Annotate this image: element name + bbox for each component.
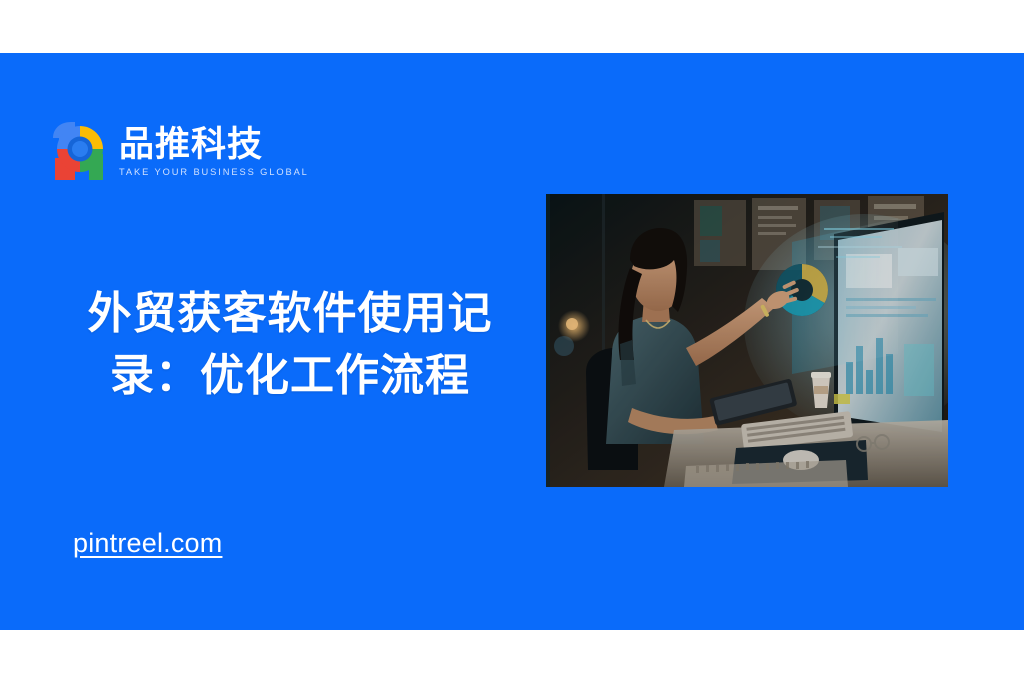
brand-logo[interactable]: 品推科技 TAKE YOUR BUSINESS GLOBAL <box>49 118 309 184</box>
hero-photo <box>546 194 948 487</box>
brand-wordmark: 品推科技 TAKE YOUR BUSINESS GLOBAL <box>119 125 309 176</box>
brand-name-cn: 品推科技 <box>119 125 309 164</box>
brand-tagline: TAKE YOUR BUSINESS GLOBAL <box>119 167 309 177</box>
slide-canvas: 品推科技 TAKE YOUR BUSINESS GLOBAL 外贸获客软件使用记… <box>0 0 1024 683</box>
page-title-line-1: 外贸获客软件使用记 <box>56 283 524 345</box>
page-title-line-2: 录：优化工作流程 <box>56 345 524 407</box>
pintreel-p-ring-logo-icon <box>49 118 111 184</box>
page-title: 外贸获客软件使用记 录：优化工作流程 <box>56 283 524 408</box>
website-url-link[interactable]: pintreel.com <box>73 528 222 559</box>
